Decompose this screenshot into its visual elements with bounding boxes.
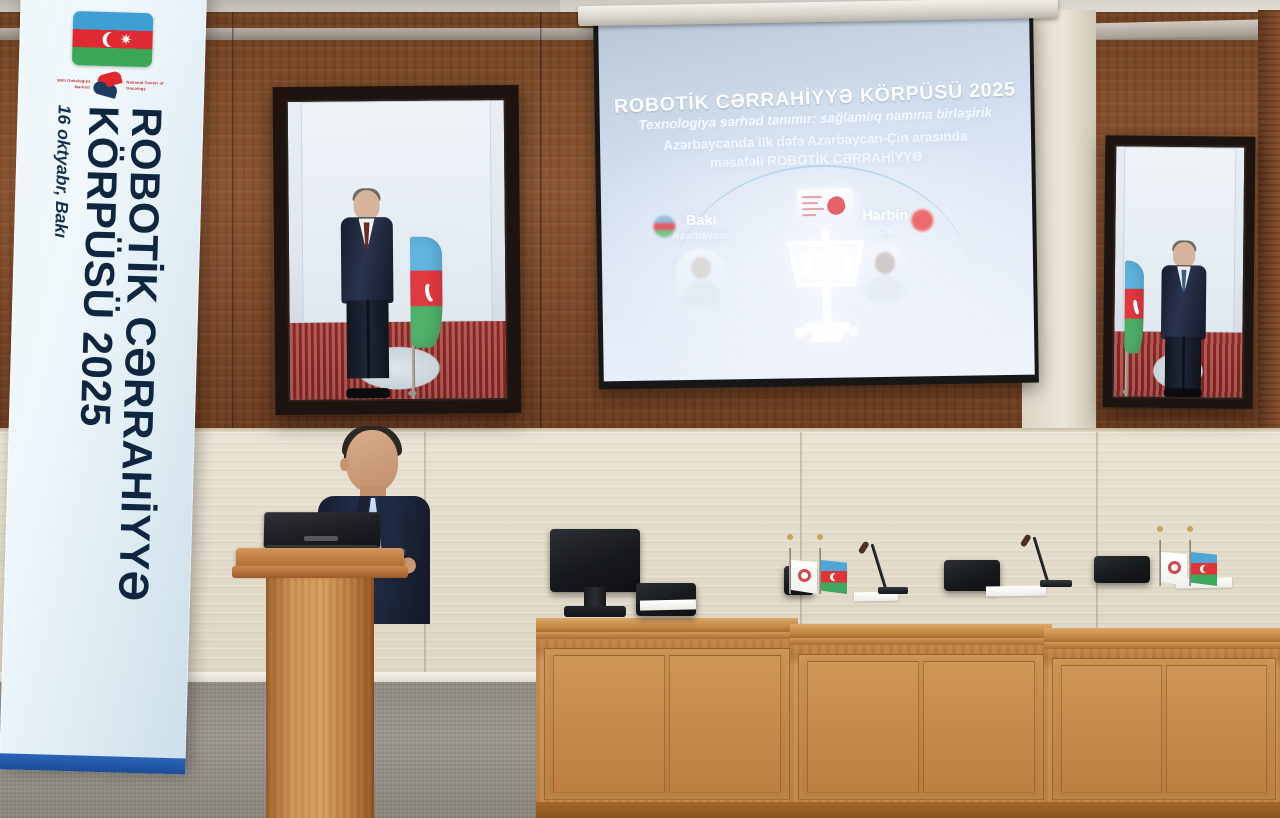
banner-text-block: ROBOTİK CƏRRAHİYYƏ KÖRPÜSÜ 2025 16 oktya… [0, 0, 207, 774]
event-banner: ✷ Milli Onkologiya Mərkəzi National Cent… [0, 0, 207, 774]
table-segment [536, 618, 798, 818]
head [346, 430, 398, 492]
wood-plank-seam [232, 12, 235, 432]
surgical-robot-icon [779, 226, 873, 351]
flag-pole [819, 548, 821, 594]
paper-sheet [986, 585, 1046, 596]
wood-pilaster [1258, 10, 1280, 434]
monitor-stand-base [564, 606, 625, 617]
podium-desktop-edge [232, 566, 408, 578]
laptop-brand-logo [304, 536, 338, 541]
conference-table [536, 596, 1280, 818]
table-flag-pair [788, 532, 858, 600]
paper-sheet [640, 599, 696, 610]
flag-cloth [1124, 260, 1144, 353]
mic-base [1040, 580, 1072, 587]
flag-finial [817, 534, 823, 540]
table-segment [790, 624, 1052, 818]
flag-cloth [1161, 552, 1187, 586]
flag-pole [1189, 540, 1191, 586]
azerbaijan-flag-icon [1124, 260, 1145, 386]
shoes [1164, 388, 1202, 397]
flag-emblem [798, 569, 811, 582]
flag-cloth [791, 560, 817, 594]
portrait-frame-left [273, 85, 522, 415]
flag-cloth [821, 560, 847, 594]
flag-finial [787, 534, 793, 540]
banner-title: ROBOTİK CƏRRAHİYYƏ KÖRPÜSÜ 2025 [64, 105, 168, 773]
flag-finial [1157, 526, 1163, 532]
monitor-stand-neck [584, 587, 606, 606]
surgeon-caption-left: Həkim Dr. Şəxsiyyət Ekspert [643, 310, 763, 319]
flag-base [1122, 389, 1127, 394]
projected-slide: ROBOTİK CƏRRAHİYYƏ KÖRPÜSÜ 2025 Texnolog… [598, 16, 1035, 382]
flag-pole [1159, 540, 1161, 586]
slide-city-baku: Bakı Azərbaycan Həkim Dr. Şəxsiyyət Eksp… [641, 212, 761, 243]
flag-pole [789, 548, 791, 594]
ear [340, 458, 349, 471]
wooden-podium [236, 548, 404, 818]
projection-screen-frame: ROBOTİK CƏRRAHİYYƏ KÖRPÜSÜ 2025 Texnolog… [593, 11, 1039, 390]
portrait-frame-right [1103, 135, 1256, 409]
trousers [346, 300, 389, 378]
flag-finial [1187, 526, 1193, 532]
flag-cloth [1191, 552, 1217, 586]
table-monitor[interactable] [1094, 556, 1150, 584]
surgeon-photo-left [676, 248, 727, 307]
mic-base [878, 587, 908, 594]
surgeon-caption-right: Prof. Guojun Ge [827, 305, 947, 314]
portrait-left-image [286, 98, 509, 402]
wood-plank-seam [540, 12, 543, 432]
gooseneck-microphone[interactable] [878, 538, 908, 594]
monitor-screen [1094, 556, 1150, 583]
table-segment [1044, 628, 1280, 818]
shoes [346, 388, 390, 398]
gooseneck-microphone[interactable] [1040, 527, 1072, 587]
portrait-subject-ilham-aliyev [1167, 241, 1199, 389]
head [353, 190, 379, 220]
slide-city-harbin: Harbin Çin Prof. Guojun Ge [825, 207, 945, 238]
portrait-right-image [1112, 144, 1247, 399]
podium-column [266, 576, 374, 818]
table-monitor[interactable] [550, 529, 640, 617]
flag-cloth [410, 237, 443, 348]
flag-emblem [1168, 561, 1181, 574]
surgeon-photo-right [860, 244, 911, 303]
monitor-screen [550, 529, 640, 592]
conference-hall-photo: ROBOTİK CƏRRAHİYYƏ KÖRPÜSÜ 2025 Texnolog… [0, 0, 1280, 818]
head [1173, 242, 1196, 268]
azerbaijan-flag-icon [410, 237, 444, 387]
portrait-subject-heydar-aliyev [336, 190, 398, 391]
table-flag-pair [1158, 524, 1228, 592]
laptop-lid [264, 512, 381, 548]
